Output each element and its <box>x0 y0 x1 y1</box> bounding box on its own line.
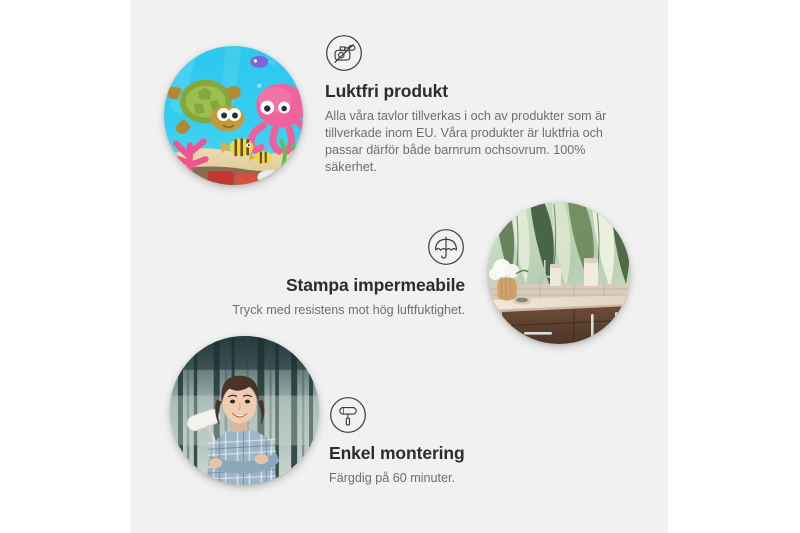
feature-description-mounting: Färgdig på 60 minuter. <box>329 470 579 487</box>
no-fragrance-icon <box>325 34 363 72</box>
installer-forest-mural-photo <box>170 336 319 485</box>
content-panel: Luktfri produkt Alla våra tavlor tillver… <box>131 0 668 533</box>
feature-title-mounting: Enkel montering <box>329 443 579 465</box>
paint-roller-icon <box>329 396 367 434</box>
feature-description-waterproof: Tryck med resistens mot hög luftfuktighe… <box>209 302 465 319</box>
feature-text-mounting: Enkel montering Färgdig på 60 minuter. <box>329 396 579 487</box>
feature-title-odorless: Luktfri produkt <box>325 81 621 103</box>
feature-text-odorless: Luktfri produkt Alla våra tavlor tillver… <box>325 34 621 177</box>
feature-panel-screenshot: Luktfri produkt Alla våra tavlor tillver… <box>0 0 800 533</box>
feature-description-odorless: Alla våra tavlor tillverkas i och av pro… <box>325 108 621 177</box>
underwater-kids-mural-photo <box>164 46 303 185</box>
umbrella-icon <box>427 228 465 266</box>
feature-title-waterproof: Stampa impermeabile <box>209 275 465 297</box>
feature-text-waterproof: Stampa impermeabile Tryck med resistens … <box>209 228 465 319</box>
bathroom-vanity-mural-photo <box>488 202 630 344</box>
